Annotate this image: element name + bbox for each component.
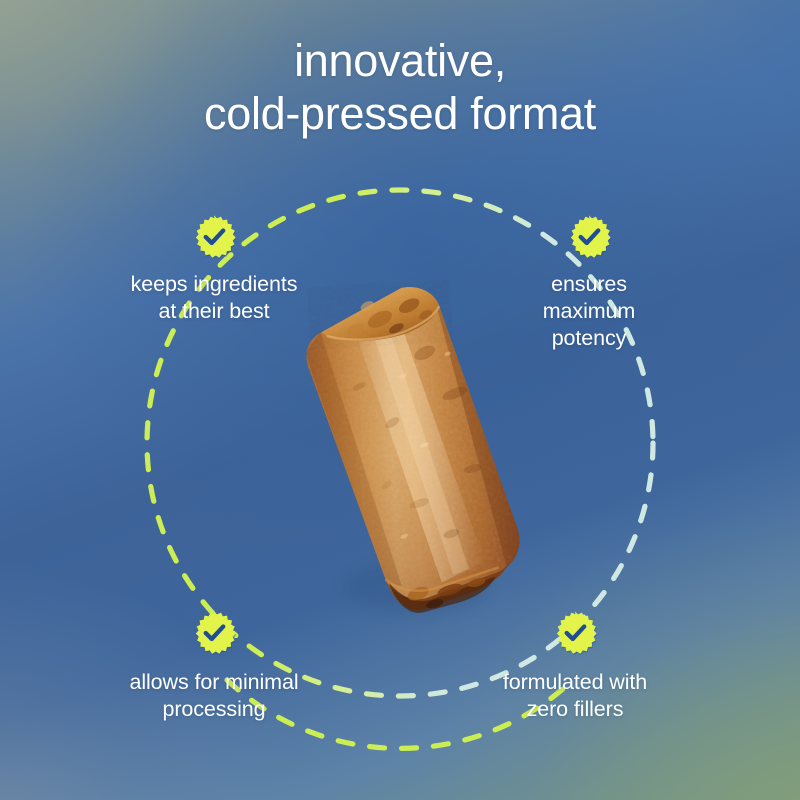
feature-keeps-ingredients-at-their-best: keeps ingredients at their best bbox=[89, 214, 339, 325]
feature-allows-for-minimal-processing: allows for minimal processing bbox=[89, 610, 339, 723]
check-badge-icon bbox=[566, 214, 612, 260]
check-badge-icon bbox=[191, 610, 237, 656]
promo-graphic: innovative, cold-pressed format bbox=[0, 0, 800, 800]
check-badge-icon bbox=[552, 610, 598, 656]
feature-label: allows for minimal processing bbox=[89, 669, 339, 723]
headline-text: innovative, cold-pressed format bbox=[0, 34, 800, 140]
feature-label: keeps ingredients at their best bbox=[89, 271, 339, 325]
feature-label: ensures maximum potency bbox=[464, 271, 714, 352]
check-badge-icon bbox=[191, 214, 237, 260]
badge-slot bbox=[89, 610, 339, 656]
feature-ensures-maximum-potency: ensures maximum potency bbox=[464, 214, 714, 352]
feature-label: formulated with zero fillers bbox=[450, 669, 700, 723]
badge-slot bbox=[464, 214, 714, 260]
badge-slot bbox=[450, 610, 700, 656]
feature-formulated-with-zero-fillers: formulated with zero fillers bbox=[450, 610, 700, 723]
badge-slot bbox=[89, 214, 339, 260]
